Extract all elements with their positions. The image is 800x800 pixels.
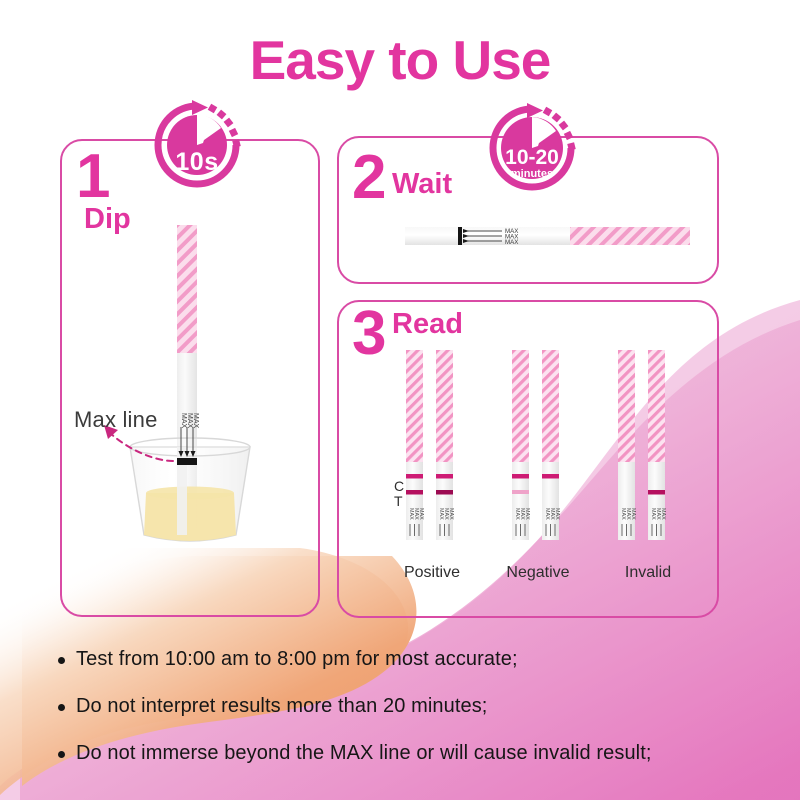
wait-strip-horizontal: MAX MAX MAX <box>405 222 690 250</box>
stopwatch-icon <box>482 98 582 198</box>
max-markings: MAX MAX MAX <box>505 228 518 246</box>
test-line <box>436 490 453 495</box>
result-caption-invalid: Invalid <box>588 564 708 582</box>
bullet-dot-icon <box>58 751 65 758</box>
page-title: Easy to Use <box>0 28 800 92</box>
step-2-label: Wait <box>392 170 452 199</box>
test-line-faint <box>512 490 529 494</box>
notes-list: Test from 10:00 am to 8:00 pm for most a… <box>58 648 778 789</box>
test-line <box>648 490 665 495</box>
test-line-label: T <box>394 494 403 508</box>
control-line <box>542 474 559 479</box>
note-item: Test from 10:00 am to 8:00 pm for most a… <box>58 648 778 671</box>
max-markings: MAX MAX MAX <box>180 413 199 429</box>
control-line <box>436 474 453 479</box>
bullet-dot-icon <box>58 657 65 664</box>
test-line <box>406 490 423 495</box>
sample-cup <box>130 438 250 541</box>
step-3-number: 3 <box>352 303 386 365</box>
control-line-label: C <box>394 479 404 493</box>
result-strip-negative-a <box>512 350 530 540</box>
urine-sample <box>144 493 236 541</box>
step-2-number: 2 <box>352 147 386 209</box>
result-caption-negative: Negative <box>478 564 598 582</box>
note-item: Do not interpret results more than 20 mi… <box>58 695 778 718</box>
svg-text:MAX: MAX <box>505 239 518 246</box>
note-item: Do not immerse beyond the MAX line or wi… <box>58 742 778 765</box>
max-line-annotation: Max line <box>74 407 158 433</box>
svg-text:MAX: MAX <box>186 413 193 429</box>
timer-badge-10s: 10s <box>148 96 246 194</box>
dip-illustration: MAX MAX MAX <box>60 225 320 565</box>
control-line <box>512 474 529 479</box>
result-caption-positive: Positive <box>372 564 492 582</box>
max-arrowheads <box>179 451 196 457</box>
absorbent-pad <box>177 225 197 353</box>
note-text: Do not immerse beyond the MAX line or wi… <box>76 742 652 765</box>
step-1-number: 1 <box>76 146 110 208</box>
stopwatch-icon <box>148 96 246 194</box>
result-strip-invalid-a <box>618 350 636 540</box>
absorbent-pad <box>570 227 690 245</box>
max-line-band <box>177 458 197 465</box>
step-3-label: Read <box>392 310 463 339</box>
svg-text:MAX: MAX <box>180 413 187 429</box>
result-strip-negative-b <box>542 350 560 540</box>
max-line-band <box>458 227 462 245</box>
result-strip-positive-a <box>406 350 424 540</box>
timer-badge-10-20-minutes: 10-20 minutes <box>482 98 582 198</box>
note-text: Do not interpret results more than 20 mi… <box>76 695 487 718</box>
result-strip-positive-b <box>436 350 454 540</box>
svg-text:MAX: MAX <box>192 413 199 429</box>
result-strips: MAX MAX MAX <box>390 350 690 560</box>
note-text: Test from 10:00 am to 8:00 pm for most a… <box>76 648 518 671</box>
infographic-canvas: Easy to Use 1 Dip 2 Wait 3 Read <box>0 0 800 800</box>
result-strip-invalid-b <box>648 350 666 540</box>
bullet-dot-icon <box>58 704 65 711</box>
max-arrowheads <box>463 229 469 243</box>
control-line <box>406 474 423 479</box>
